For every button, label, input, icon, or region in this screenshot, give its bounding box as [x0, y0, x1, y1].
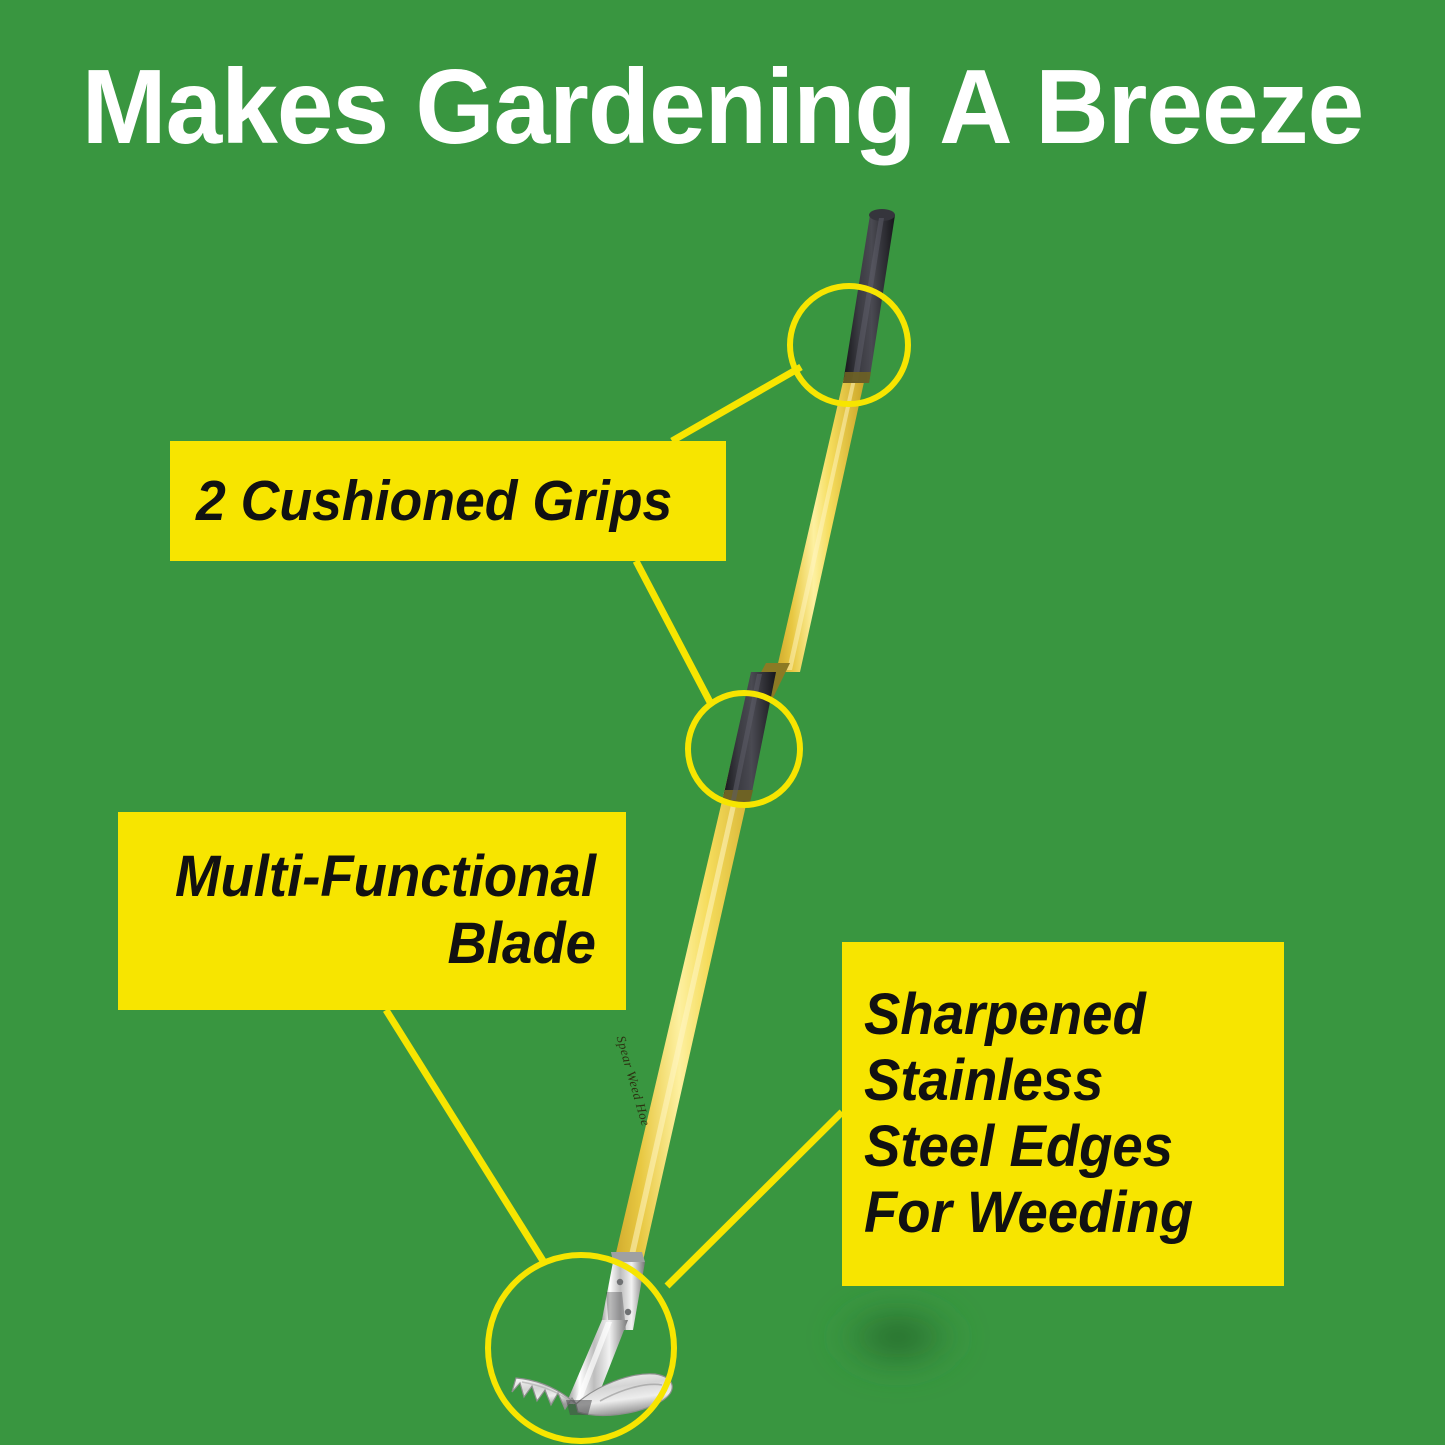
callout-multi-functional-blade-line-2: Blade [175, 911, 596, 978]
callout-sharpened-edges-line-3: Steel Edges [864, 1114, 1238, 1180]
callout-multi-functional-blade-line-1: Multi-Functional [175, 844, 596, 911]
top-cushioned-grip [843, 209, 895, 383]
blade-to-blade-circle-line [386, 1010, 545, 1264]
callout-cushioned-grips: 2 Cushioned Grips [170, 441, 726, 561]
product-ground-shadow [826, 1293, 970, 1381]
edges-to-blade-circle-line [667, 1112, 842, 1286]
callout-sharpened-edges-line-1: Sharpened [864, 982, 1238, 1048]
callout-cushioned-grips-line-1: 2 Cushioned Grips [196, 471, 670, 531]
middle-cushioned-grip [722, 663, 790, 802]
callout-sharpened-edges-line-4: For Weeding [864, 1180, 1238, 1246]
grips-to-middle-circle-line [636, 561, 711, 704]
product-infographic-poster: Makes Gardening A Breeze [0, 0, 1445, 1445]
callout-sharpened-edges: Sharpened Stainless Steel Edges For Weed… [842, 942, 1284, 1286]
callout-sharpened-edges-line-2: Stainless [864, 1048, 1238, 1114]
grips-to-top-circle-line [672, 367, 801, 441]
callout-multi-functional-blade: Multi-Functional Blade [118, 812, 626, 1010]
